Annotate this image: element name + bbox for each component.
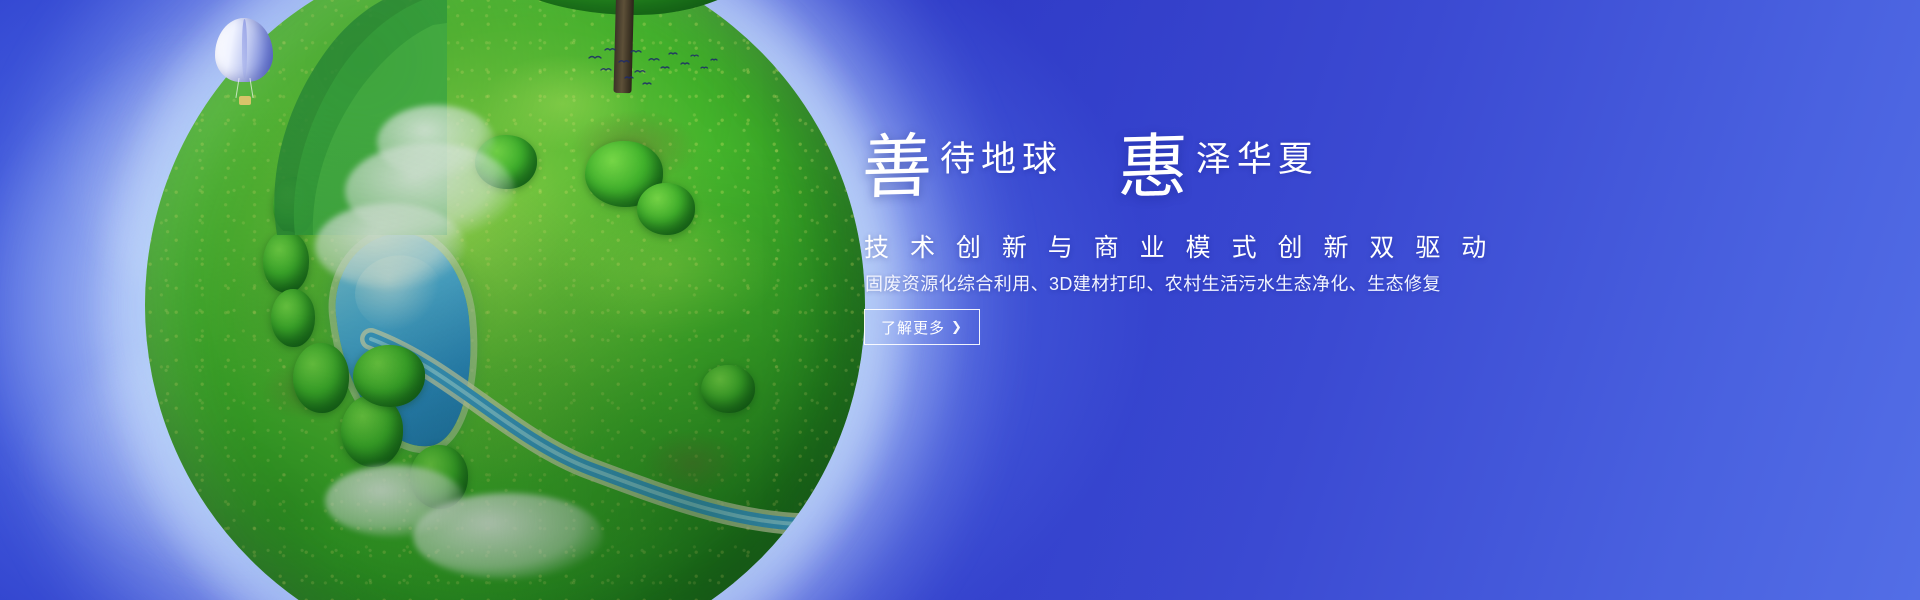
learn-more-label: 了解更多: [881, 317, 945, 338]
headline-accent-char-2: 惠: [1117, 131, 1189, 203]
hero-banner: 善待地球 惠泽华夏 技 术 创 新 与 商 业 模 式 创 新 双 驱 动 固废…: [0, 0, 1920, 600]
hot-air-balloon-icon: [215, 18, 273, 113]
balloon-envelope: [215, 18, 273, 82]
headline-rest-2: 泽华夏: [1196, 143, 1319, 178]
banner-description: 固废资源化综合利用、3D建材打印、农村生活污水生态净化、生态修复: [865, 270, 1441, 296]
headline-rest-1: 待地球: [940, 143, 1063, 178]
banner-subtitle: 技 术 创 新 与 商 业 模 式 创 新 双 驱 动: [864, 228, 1493, 264]
headline-phrase-2: 惠泽华夏: [1118, 132, 1319, 202]
banner-content: 善待地球 惠泽华夏 技 术 创 新 与 商 业 模 式 创 新 双 驱 动 固废…: [862, 0, 1562, 600]
headline-accent-char-1: 善: [861, 131, 933, 203]
learn-more-button[interactable]: 了解更多 ❯: [864, 309, 980, 345]
balloon-basket: [239, 96, 251, 105]
flock-of-birds-icon: [585, 42, 725, 94]
headline: 善待地球 惠泽华夏: [862, 132, 1562, 224]
chevron-right-icon: ❯: [951, 319, 963, 335]
headline-phrase-1: 善待地球: [862, 132, 1063, 202]
